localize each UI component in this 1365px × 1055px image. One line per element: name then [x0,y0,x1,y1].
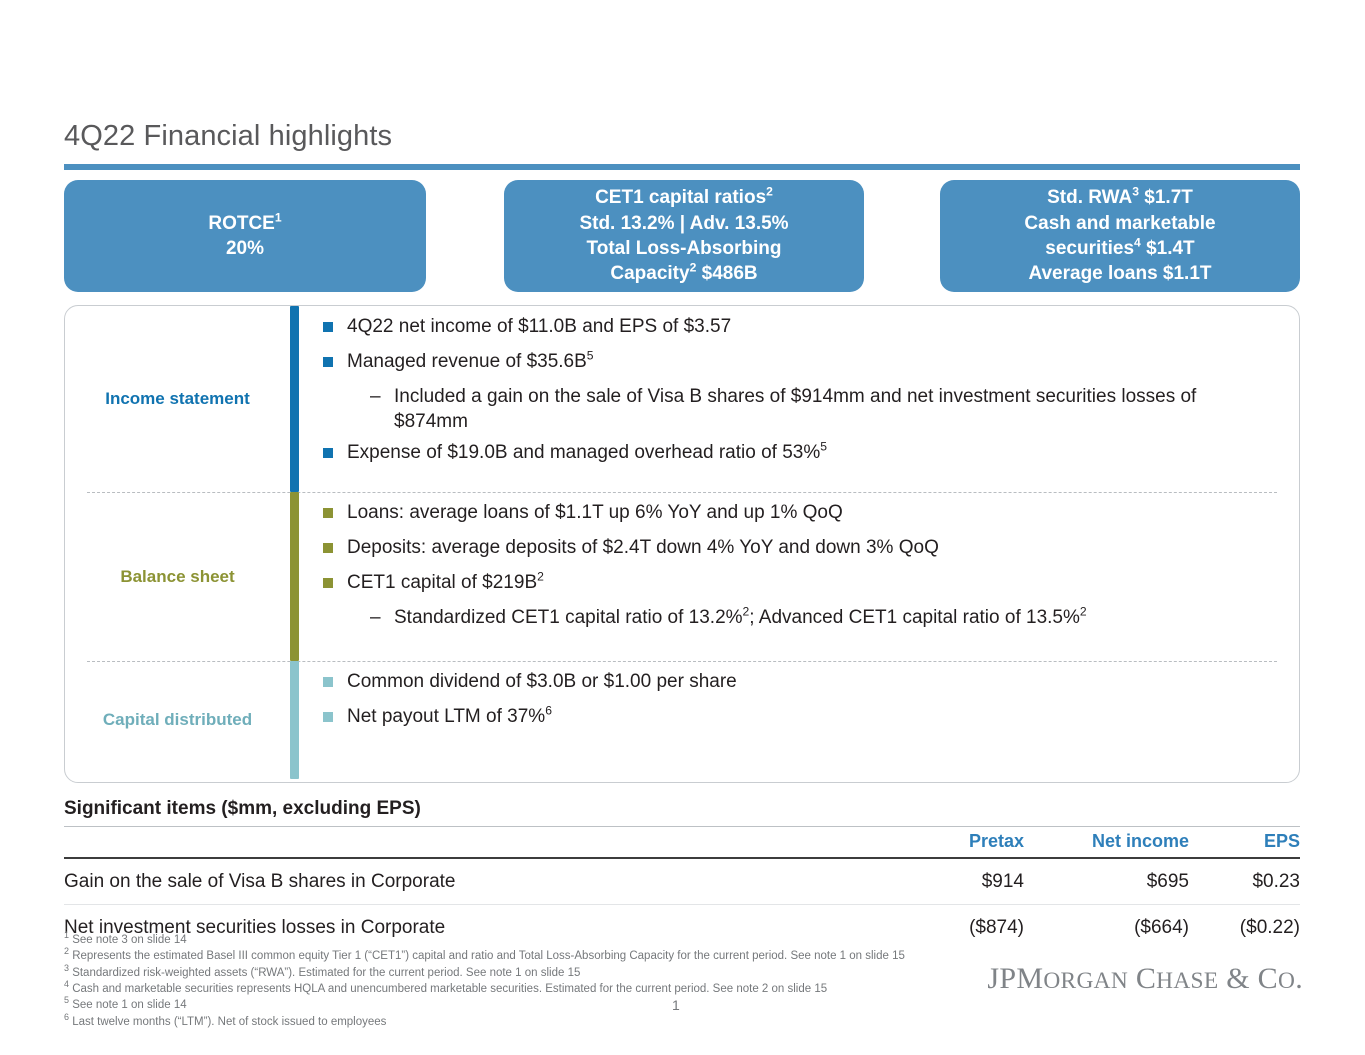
kpi-line: securities4 $1.4T [1024,236,1215,261]
kpi-box-std-rwa-text: Std. RWA3 $1.7TCash and marketablesecuri… [1024,185,1215,286]
table-row: Gain on the sale of Visa B shares in Cor… [64,858,1300,905]
sub-bullet-item: –Included a gain on the sale of Visa B s… [323,384,1273,434]
bullet-item: Net payout LTM of 37%6 [323,704,1273,729]
logo-text-part: ORGAN [1043,968,1128,994]
kpi-box-rotce-text: ROTCE120% [208,211,281,262]
bullet-list-income-statement: 4Q22 net income of $11.0B and EPS of $3.… [299,306,1299,492]
bullet-item: Common dividend of $3.0B or $1.00 per sh… [323,669,1273,694]
kpi-line: 20% [208,236,281,261]
accent-bar-balance-sheet [290,492,299,661]
square-bullet-icon [323,357,333,367]
cell-net-income: $695 [1024,858,1189,905]
square-bullet-icon [323,677,333,687]
footnote: 1 See note 3 on slide 14 [64,932,964,948]
bullet-group-level-1: 4Q22 net income of $11.0B and EPS of $3.… [323,314,1273,374]
kpi-box-cet1-capital-ratios: CET1 capital ratios2Std. 13.2% | Adv. 13… [504,180,864,292]
bullet-item: 4Q22 net income of $11.0B and EPS of $3.… [323,314,1273,339]
logo-text-part: C [1128,962,1156,995]
bullet-item: CET1 capital of $219B2 [323,570,1273,595]
bullet-list-balance-sheet: Loans: average loans of $1.1T up 6% YoY … [299,492,1299,661]
bullet-group-level-2: –Included a gain on the sale of Visa B s… [323,384,1273,434]
logo-text-part: & C [1218,962,1278,995]
section-capital-distributed: Capital distributed Common dividend of $… [65,661,1299,779]
slide-root: 4Q22 Financial highlights ROTCE120% CET1… [0,0,1365,1055]
square-bullet-icon [323,322,333,332]
significant-items-title: Significant items ($mm, excluding EPS) [64,798,421,820]
kpi-line: CET1 capital ratios2 [579,185,788,210]
kpi-line: Std. RWA3 $1.7T [1024,185,1215,210]
accent-bar-capital-distributed [290,661,299,779]
bullet-item: Expense of $19.0B and managed overhead r… [323,440,1273,465]
footnote: 4 Cash and marketable securities represe… [64,981,964,997]
cell-description: Gain on the sale of Visa B shares in Cor… [64,858,864,905]
square-bullet-icon [323,578,333,588]
bullet-item: Deposits: average deposits of $2.4T down… [323,535,1273,560]
section-label-capital-distributed: Capital distributed [65,661,290,779]
table-header-row: Pretax Net income EPS [64,826,1300,858]
square-bullet-icon [323,712,333,722]
section-label-balance-sheet: Balance sheet [65,492,290,661]
cell-net-income: ($664) [1024,905,1189,951]
section-label-income-statement: Income statement [65,306,290,492]
kpi-line: Capacity2 $486B [579,261,788,286]
kpi-line: Std. 13.2% | Adv. 13.5% [579,211,788,236]
highlights-card: Income statement 4Q22 net income of $11.… [64,305,1300,783]
dash-bullet-icon: – [370,384,381,409]
title-underline-rule [64,164,1300,170]
footnote: 3 Standardized risk-weighted assets (“RW… [64,965,964,981]
kpi-line: Total Loss-Absorbing [579,236,788,261]
bullet-item: Managed revenue of $35.6B5 [323,349,1273,374]
kpi-box-std-rwa: Std. RWA3 $1.7TCash and marketablesecuri… [940,180,1300,292]
logo-text-part: O [1278,968,1295,994]
kpi-box-rotce: ROTCE120% [64,180,426,292]
footnote-list: 1 See note 3 on slide 142 Represents the… [64,932,964,1030]
footnote: 6 Last twelve months (“LTM”). Net of sto… [64,1014,964,1030]
bullet-group-level-1: Common dividend of $3.0B or $1.00 per sh… [323,669,1273,729]
square-bullet-icon [323,448,333,458]
accent-bar-income-statement [290,306,299,492]
kpi-line: Average loans $1.1T [1024,261,1215,286]
logo-text-part: JPM [987,962,1043,995]
logo-text-part: . [1295,962,1303,995]
logo-text-part: HASE [1156,968,1218,994]
column-header-description [64,826,864,858]
kpi-line: ROTCE1 [208,211,281,236]
section-balance-sheet: Balance sheet Loans: average loans of $1… [65,492,1299,661]
column-header-pretax: Pretax [864,826,1024,858]
dash-bullet-icon: – [370,605,381,630]
bullet-item: Loans: average loans of $1.1T up 6% YoY … [323,500,1273,525]
cell-eps: ($0.22) [1189,905,1300,951]
column-header-eps: EPS [1189,826,1300,858]
square-bullet-icon [323,508,333,518]
page-number: 1 [672,997,680,1013]
jpmorgan-chase-logo: JPMORGAN CHASE & CO. [987,962,1303,996]
kpi-box-row: ROTCE120% CET1 capital ratios2Std. 13.2%… [64,180,1300,292]
kpi-box-cet1-capital-ratios-text: CET1 capital ratios2Std. 13.2% | Adv. 13… [579,185,788,286]
bullet-list-capital-distributed: Common dividend of $3.0B or $1.00 per sh… [299,661,1299,779]
square-bullet-icon [323,543,333,553]
footnote: 5 See note 1 on slide 14 [64,997,964,1013]
footnote: 2 Represents the estimated Basel III com… [64,948,964,964]
cell-eps: $0.23 [1189,858,1300,905]
page-title: 4Q22 Financial highlights [64,120,392,153]
sub-bullet-item: –Standardized CET1 capital ratio of 13.2… [323,605,1273,630]
section-income-statement: Income statement 4Q22 net income of $11.… [65,306,1299,492]
bullet-group-level-1: Expense of $19.0B and managed overhead r… [323,440,1273,465]
column-header-net-income: Net income [1024,826,1189,858]
bullet-group-level-2: –Standardized CET1 capital ratio of 13.2… [323,605,1273,630]
kpi-line: Cash and marketable [1024,211,1215,236]
bullet-group-level-1: Loans: average loans of $1.1T up 6% YoY … [323,500,1273,595]
cell-pretax: $914 [864,858,1024,905]
